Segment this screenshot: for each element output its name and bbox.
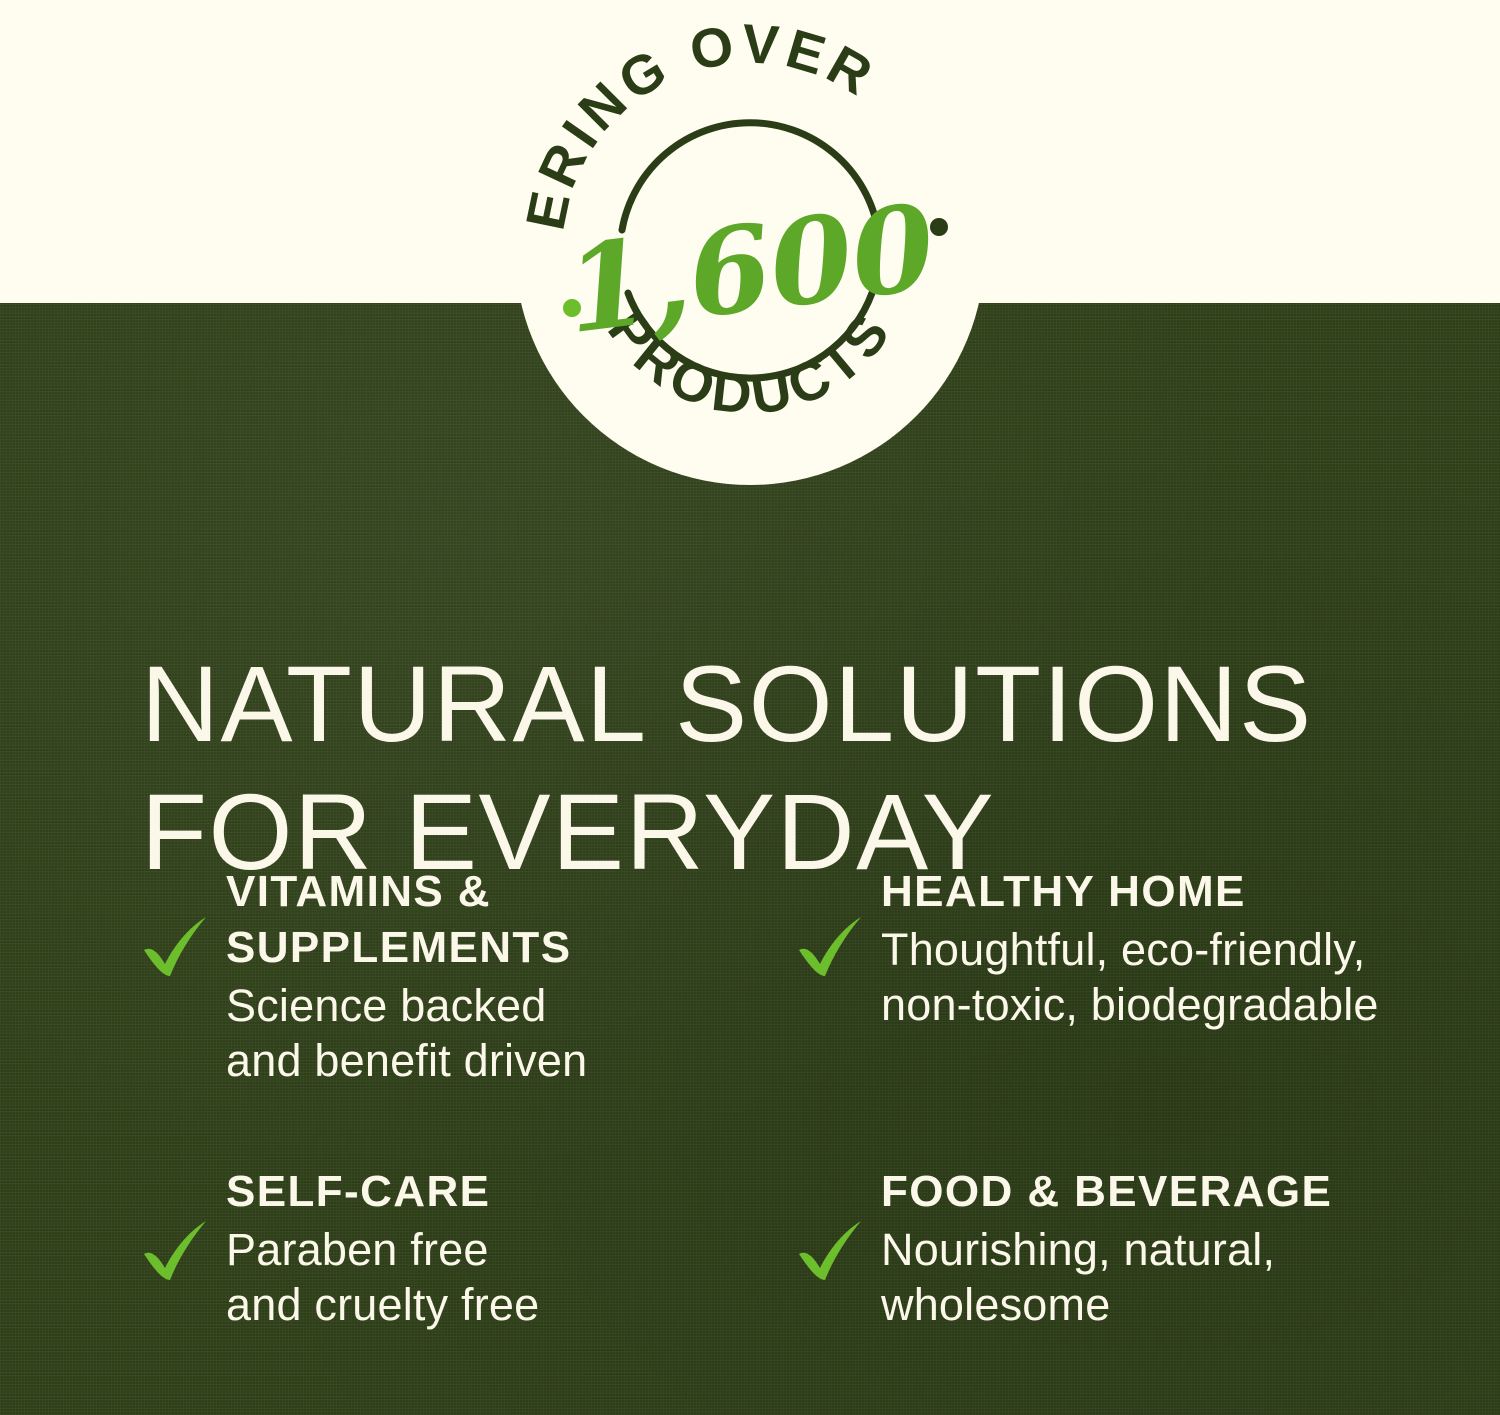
feature-item-food-beverage: FOOD & BEVERAGE Nourishing, natural, who… [785, 1162, 1440, 1392]
feature-description: Science backed and benefit driven [226, 978, 785, 1088]
check-icon [138, 1210, 216, 1288]
feature-title-line-1: HEALTHY HOME [881, 867, 1246, 916]
check-icon [793, 906, 871, 984]
feature-title-line-1: VITAMINS & [226, 867, 491, 916]
badge-dot-right [930, 218, 948, 236]
feature-desc-line-2: non-toxic, biodegradable [881, 977, 1440, 1032]
check-icon [793, 1210, 871, 1288]
offering-over-products-badge: OFFERING OVER PRODUCTS 1,600 [515, 15, 985, 485]
feature-item-healthy-home: HEALTHY HOME Thoughtful, eco-friendly, n… [785, 862, 1440, 1162]
feature-desc-line-1: Paraben free [226, 1222, 785, 1277]
feature-title-line-1: SELF-CARE [226, 1167, 490, 1216]
promotional-graphic: OFFERING OVER PRODUCTS 1,600 NATURAL SOL… [0, 0, 1500, 1415]
feature-desc-line-2: and cruelty free [226, 1277, 785, 1332]
feature-item-vitamins-supplements: VITAMINS & SUPPLEMENTS Science backed an… [130, 862, 785, 1162]
feature-title: FOOD & BEVERAGE [881, 1164, 1440, 1220]
page-title: NATURAL SOLUTIONS FOR EVERYDAY [141, 640, 1381, 896]
feature-title: SELF-CARE [226, 1164, 785, 1220]
feature-title: VITAMINS & SUPPLEMENTS [226, 864, 785, 976]
feature-description: Thoughtful, eco-friendly, non-toxic, bio… [881, 922, 1440, 1032]
feature-description: Nourishing, natural, wholesome [881, 1222, 1440, 1332]
headline-line-1: NATURAL SOLUTIONS [141, 640, 1381, 768]
feature-title-line-1: FOOD & BEVERAGE [881, 1167, 1332, 1216]
feature-desc-line-1: Science backed [226, 978, 785, 1033]
feature-grid: VITAMINS & SUPPLEMENTS Science backed an… [130, 862, 1440, 1392]
feature-text: FOOD & BEVERAGE Nourishing, natural, who… [881, 1162, 1440, 1332]
check-icon [138, 906, 216, 984]
feature-title-line-2: SUPPLEMENTS [226, 923, 571, 972]
feature-title: HEALTHY HOME [881, 864, 1440, 920]
feature-desc-line-2: and benefit driven [226, 1033, 785, 1088]
badge-artwork: OFFERING OVER PRODUCTS 1,600 [515, 15, 985, 485]
feature-item-self-care: SELF-CARE Paraben free and cruelty free [130, 1162, 785, 1392]
feature-text: VITAMINS & SUPPLEMENTS Science backed an… [226, 862, 785, 1088]
feature-text: HEALTHY HOME Thoughtful, eco-friendly, n… [881, 862, 1440, 1032]
feature-desc-line-1: Thoughtful, eco-friendly, [881, 922, 1440, 977]
feature-desc-line-1: Nourishing, natural, [881, 1222, 1440, 1277]
feature-desc-line-2: wholesome [881, 1277, 1440, 1332]
feature-description: Paraben free and cruelty free [226, 1222, 785, 1332]
feature-text: SELF-CARE Paraben free and cruelty free [226, 1162, 785, 1332]
